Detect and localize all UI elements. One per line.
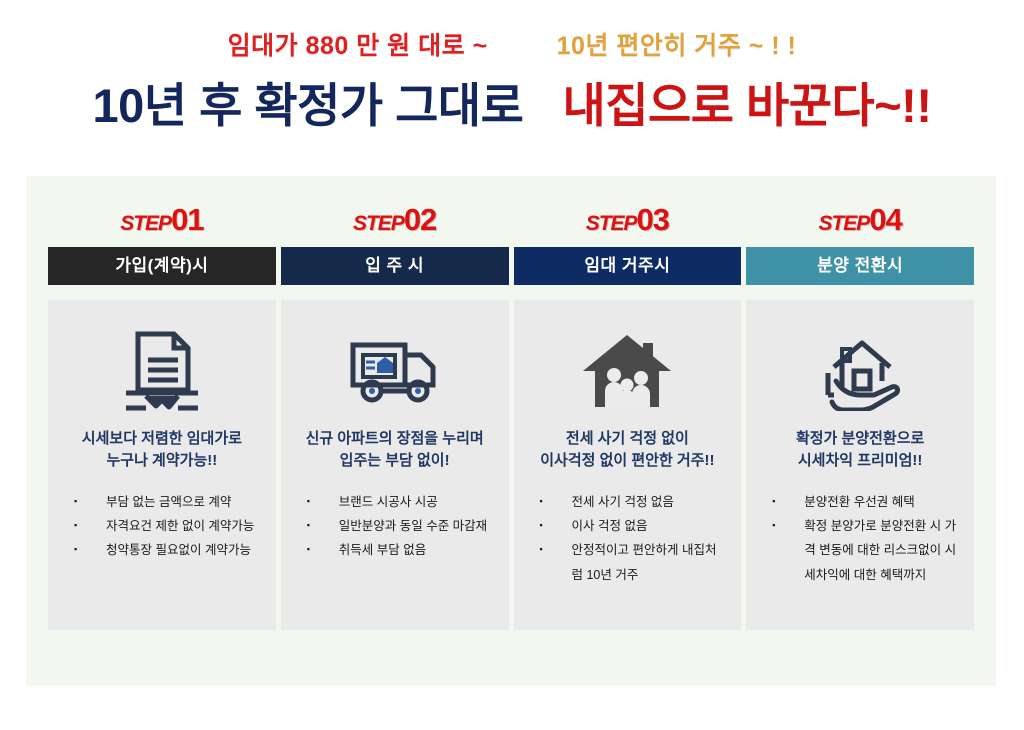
list-item: 분양전환 우선권 혜택 — [764, 490, 960, 514]
steps-panel: STEP01 가입(계약)시 — [26, 176, 996, 686]
step-column-03: STEP03 임대 거주시 — [514, 204, 742, 630]
bullet-list-03: 전세 사기 걱정 없음 이사 걱정 없음 안정적이고 편안하게 내집처럼 10년… — [514, 490, 742, 588]
step-label-02: STEP02 — [281, 204, 509, 238]
steps-grid: STEP01 가입(계약)시 — [48, 204, 974, 630]
list-item: 안정적이고 편안하게 내집처럼 10년 거주 — [532, 538, 728, 587]
bullet-list-01: 부담 없는 금액으로 계약 자격요건 제한 없이 계약가능 청약통장 필요없이 … — [48, 490, 276, 563]
subheadline-gold-text: 10년 편안히 거주 ~ ! ! — [557, 32, 797, 60]
step-column-02: STEP02 입 주 시 — [281, 204, 509, 630]
list-item: 전세 사기 걱정 없음 — [532, 490, 728, 514]
step-label-number-02: 02 — [404, 202, 436, 237]
contract-handshake-icon — [122, 316, 202, 426]
step-bar-01: 가입(계약)시 — [48, 247, 276, 285]
card-heading-04: 확정가 분양전환으로 시세차익 프리미엄!! — [788, 428, 932, 472]
step-label-number-03: 03 — [637, 202, 669, 237]
step-bar-02: 입 주 시 — [281, 247, 509, 285]
card-heading-line1-03: 전세 사기 걱정 없이 — [566, 430, 689, 447]
house-in-hand-icon — [814, 316, 906, 426]
card-heading-03: 전세 사기 걱정 없이 이사걱정 없이 편안한 거주!! — [532, 428, 722, 472]
step-bar-03: 임대 거주시 — [514, 247, 742, 285]
step-label-word-04: STEP — [818, 212, 869, 235]
step-label-word-02: STEP — [353, 212, 404, 235]
list-item: 브랜드 시공사 시공 — [299, 490, 495, 514]
main-headline-navy-text: 10년 후 확정가 그대로 — [93, 79, 524, 132]
card-heading-02: 신규 아파트의 장점을 누리며 입주는 부담 없이! — [298, 428, 492, 472]
step-label-word-03: STEP — [586, 212, 637, 235]
step-bar-04: 분양 전환시 — [746, 247, 974, 285]
step-label-number-04: 04 — [869, 202, 901, 237]
list-item: 이사 걱정 없음 — [532, 514, 728, 538]
card-heading-01: 시세보다 저렴한 임대가로 누구나 계약가능!! — [74, 428, 250, 472]
card-heading-line1-04: 확정가 분양전환으로 — [796, 430, 924, 447]
headline-block: 임대가 880 만 원 대로 ~ 10년 편안히 거주 ~ ! ! 10년 후 … — [0, 0, 1024, 130]
family-house-icon — [581, 316, 673, 426]
list-item: 일반분양과 동일 수준 마감재 — [299, 514, 495, 538]
card-heading-line2-02: 입주는 부담 없이! — [340, 452, 450, 469]
main-headline-red-text: 내집으로 바꾼다~!! — [563, 79, 932, 132]
step-card-03: 전세 사기 걱정 없이 이사걱정 없이 편안한 거주!! 전세 사기 걱정 없음… — [514, 300, 742, 630]
bullet-list-02: 브랜드 시공사 시공 일반분양과 동일 수준 마감재 취득세 부담 없음 — [281, 490, 509, 563]
step-label-04: STEP04 — [746, 204, 974, 238]
card-heading-line2-04: 시세차익 프리미엄!! — [798, 452, 923, 469]
subheadline: 임대가 880 만 원 대로 ~ 10년 편안히 거주 ~ ! ! — [0, 34, 1024, 59]
step-label-01: STEP01 — [48, 204, 276, 238]
step-label-word-01: STEP — [120, 212, 171, 235]
step-card-04: 확정가 분양전환으로 시세차익 프리미엄!! 분양전환 우선권 혜택 확정 분양… — [746, 300, 974, 630]
list-item: 청약통장 필요없이 계약가능 — [66, 538, 262, 562]
list-item: 확정 분양가로 분양전환 시 가격 변동에 대한 리스크없이 시세차익에 대한 … — [764, 514, 960, 587]
list-item: 부담 없는 금액으로 계약 — [66, 490, 262, 514]
step-card-01: 시세보다 저렴한 임대가로 누구나 계약가능!! 부담 없는 금액으로 계약 자… — [48, 300, 276, 630]
step-label-03: STEP03 — [514, 204, 742, 238]
step-column-01: STEP01 가입(계약)시 — [48, 204, 276, 630]
list-item: 취득세 부담 없음 — [299, 538, 495, 562]
moving-truck-icon — [347, 316, 443, 426]
card-heading-line1-02: 신규 아파트의 장점을 누리며 — [306, 430, 484, 447]
list-item: 자격요건 제한 없이 계약가능 — [66, 514, 262, 538]
card-heading-line2-01: 누구나 계약가능!! — [106, 452, 217, 469]
step-label-number-01: 01 — [171, 202, 203, 237]
subheadline-red-text: 임대가 880 만 원 대로 ~ — [228, 32, 488, 60]
card-heading-line2-03: 이사걱정 없이 편안한 거주!! — [540, 452, 714, 469]
bullet-list-04: 분양전환 우선권 혜택 확정 분양가로 분양전환 시 가격 변동에 대한 리스크… — [746, 490, 974, 588]
step-card-02: 신규 아파트의 장점을 누리며 입주는 부담 없이! 브랜드 시공사 시공 일반… — [281, 300, 509, 630]
card-heading-line1-01: 시세보다 저렴한 임대가로 — [82, 430, 242, 447]
main-headline: 10년 후 확정가 그대로 내집으로 바꾼다~!! — [0, 81, 1024, 130]
step-column-04: STEP04 분양 전환시 확정가 — [746, 204, 974, 630]
